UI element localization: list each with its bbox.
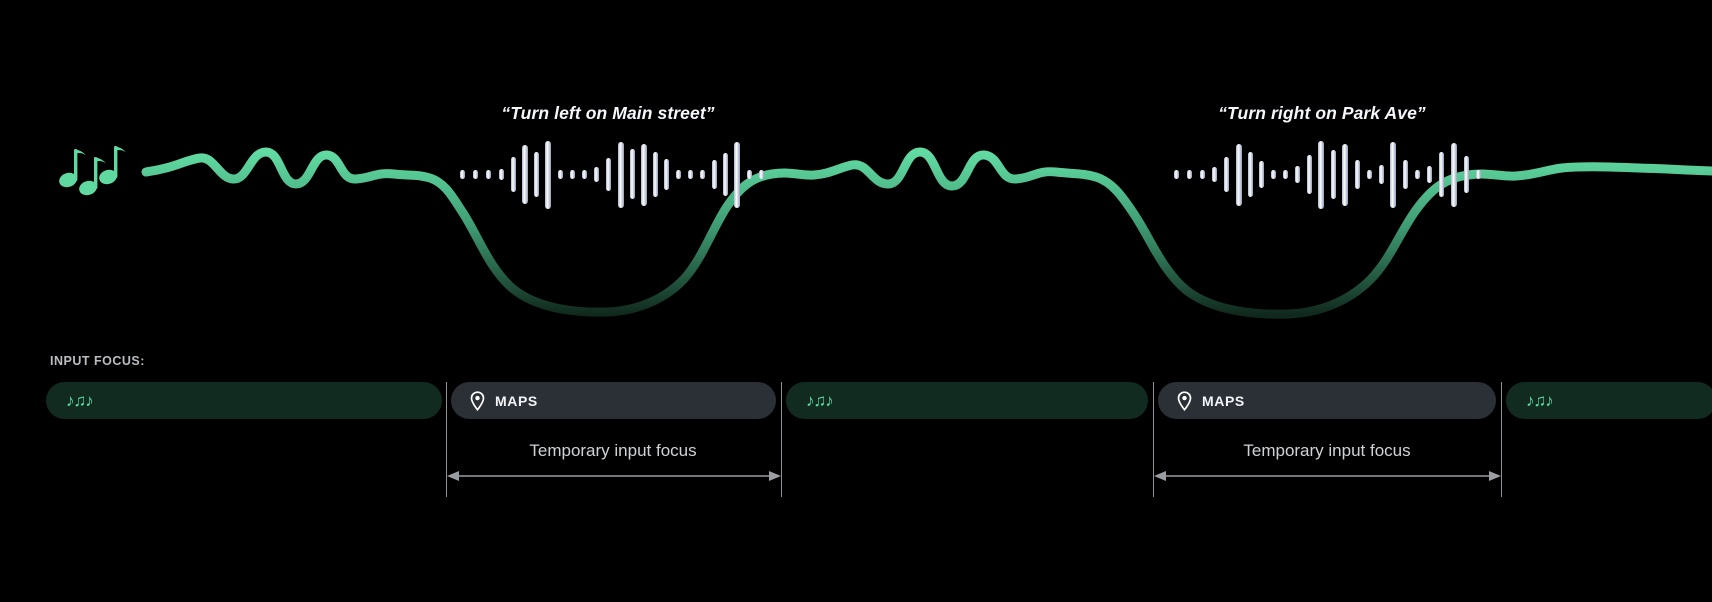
input-focus-segment-music-2[interactable]: ♪♫♪ [786, 382, 1148, 419]
input-focus-segment-maps-2[interactable]: MAPS [1158, 382, 1496, 419]
maps-label: MAPS [495, 393, 538, 409]
temporary-focus-span-arrow-1 [446, 465, 782, 487]
temporary-focus-span-arrow-2 [1153, 465, 1502, 487]
temporary-focus-annotation-1: Temporary input focus [529, 441, 696, 461]
location-pin-icon [1176, 391, 1193, 411]
input-focus-label: INPUT FOCUS: [50, 354, 145, 368]
music-notes-icon [57, 146, 126, 197]
input-focus-segment-music-1[interactable]: ♪♫♪ [46, 382, 442, 419]
waveform-timeline-figure: “Turn left on Main street” “Turn right o… [0, 0, 1712, 602]
music-notes-icon: ♪♫♪ [66, 392, 93, 409]
voice-bars-group-2 [1174, 141, 1481, 209]
input-focus-track: ♪♫♪ MAPS ♪♫♪ MAPS ♪♫♪ [0, 382, 1712, 422]
temporary-focus-annotation-2: Temporary input focus [1243, 441, 1410, 461]
input-focus-segment-maps-1[interactable]: MAPS [451, 382, 776, 419]
input-focus-segment-music-3[interactable]: ♪♫♪ [1506, 382, 1712, 419]
transcript-quote-1: “Turn left on Main street” [501, 103, 714, 124]
transcript-quote-2: “Turn right on Park Ave” [1218, 103, 1426, 124]
location-pin-icon [469, 391, 486, 411]
music-notes-icon: ♪♫♪ [806, 392, 833, 409]
maps-label: MAPS [1202, 393, 1245, 409]
waveform-layer [0, 0, 1712, 340]
music-notes-icon: ♪♫♪ [1526, 392, 1553, 409]
voice-bars-group-1 [460, 141, 764, 209]
